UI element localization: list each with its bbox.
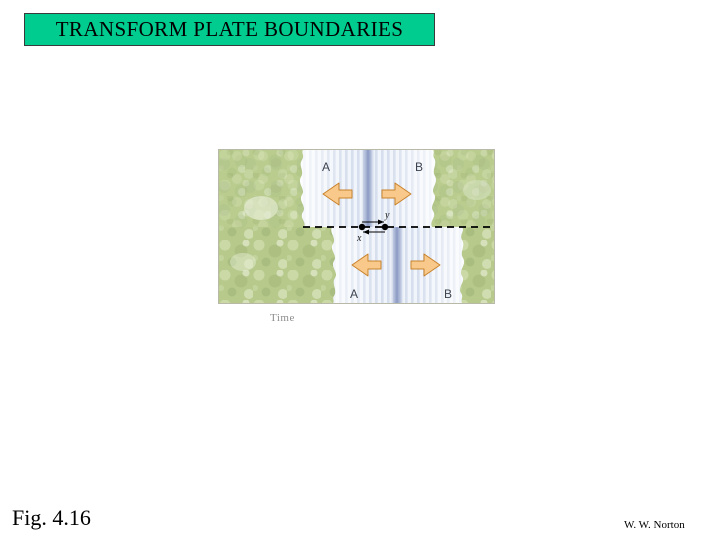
figure-container: A B A B <box>218 149 495 304</box>
seafloor-spreading-diagram: A B A B <box>218 149 495 304</box>
point-x-marker <box>359 224 365 230</box>
point-y-label: y <box>384 210 390 221</box>
point-y-marker <box>382 224 388 230</box>
figure-caption: Fig. 4.16 <box>12 505 91 531</box>
slide-title-banner: TRANSFORM PLATE BOUNDARIES <box>24 13 435 46</box>
plate-label-a-bottom: A <box>350 287 358 301</box>
page-title: TRANSFORM PLATE BOUNDARIES <box>56 17 404 42</box>
plate-label-b-bottom: B <box>444 287 452 301</box>
time-axis-label: Time <box>270 312 295 324</box>
plate-label-a-top: A <box>322 160 330 174</box>
transform-fault-illustration: A B A B <box>219 150 494 303</box>
point-x-label: x <box>356 233 362 244</box>
publisher-credit: W. W. Norton <box>624 519 685 531</box>
plate-label-b-top: B <box>415 160 423 174</box>
